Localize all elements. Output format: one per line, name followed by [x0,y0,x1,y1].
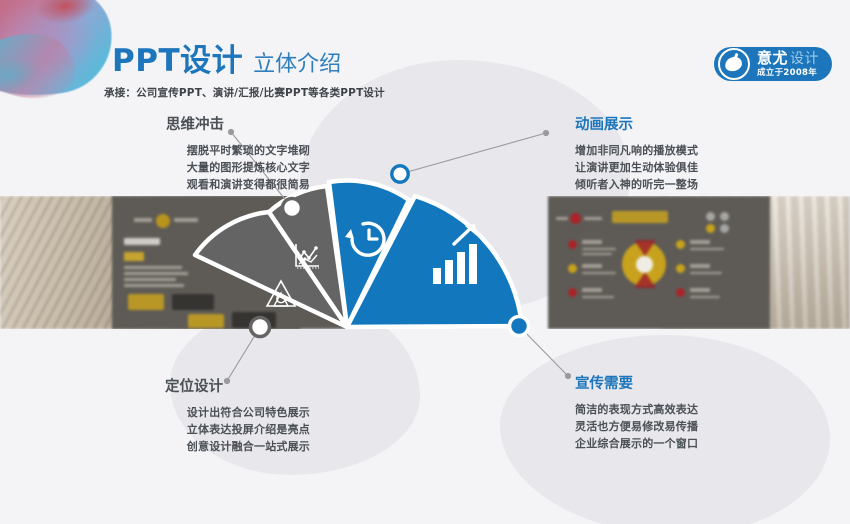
info-line: 简洁的表现方式高效表达 [575,401,815,418]
title-main: PPT设计 [112,46,243,77]
info-line: 增加非同凡响的播放模式 [575,142,815,159]
slide-canvas: PPT设计 立体介绍 承接：公司宣传PPT、演讲/汇报/比赛PPT等各类PPT设… [0,0,850,524]
info-block-bottom-left: 定位设计 设计出符合公司特色展示 立体表达投屏介绍是亮点 创意设计融合一站式展示 [78,380,310,455]
logo-text: 意尤 设计 成立于2008年 [757,51,819,78]
page-title: PPT设计 立体介绍 [112,46,341,77]
info-line: 灵活也方便易修改易传播 [575,418,815,435]
info-heading-animation: 动画展示 [575,118,815,133]
title-sub: 立体介绍 [253,54,341,76]
info-line: 观看和演讲变得都很简易 [80,176,310,193]
info-line: 摆脱平时繁琐的文字堆砌 [80,142,310,159]
info-line: 让演讲更加生动体验俱佳 [575,159,815,176]
info-heading-promotion: 宣传需要 [575,377,815,392]
logo-brand-primary: 意尤 [757,51,788,66]
info-line: 设计出符合公司特色展示 [78,404,310,421]
slide-header: PPT设计 立体介绍 承接：公司宣传PPT、演讲/汇报/比赛PPT等各类PPT设… [0,0,850,110]
info-line: 大量的图形提炼核心文字 [80,159,310,176]
brand-logo[interactable]: 意尤 设计 成立于2008年 [714,47,832,81]
info-block-top-right: 动画展示 增加非同凡响的播放模式 让演讲更加生动体验俱佳 倾听者入神的听完一整场 [575,118,815,193]
info-block-bottom-right: 宣传需要 简洁的表现方式高效表达 灵活也方便易修改易传播 企业综合展示的一个窗口 [575,377,815,452]
info-heading-positioning: 定位设计 [78,380,310,395]
logo-tagline: 成立于2008年 [757,69,819,78]
header-subtitle: 承接：公司宣传PPT、演讲/汇报/比赛PPT等各类PPT设计 [104,85,385,100]
mouse-cursor-circle-icon [718,48,750,80]
slide-thumbnail-right [548,196,770,329]
info-line: 创意设计融合一站式展示 [78,438,310,455]
logo-brand-secondary: 设计 [790,52,819,66]
info-heading-mindset: 思维冲击 [80,118,310,133]
info-line: 倾听者入神的听完一整场 [575,176,815,193]
info-line: 立体表达投屏介绍是亮点 [78,421,310,438]
info-block-top-left: 思维冲击 摆脱平时繁琐的文字堆砌 大量的图形提炼核心文字 观看和演讲变得都很简易 [80,118,310,193]
info-line: 企业综合展示的一个窗口 [575,435,815,452]
